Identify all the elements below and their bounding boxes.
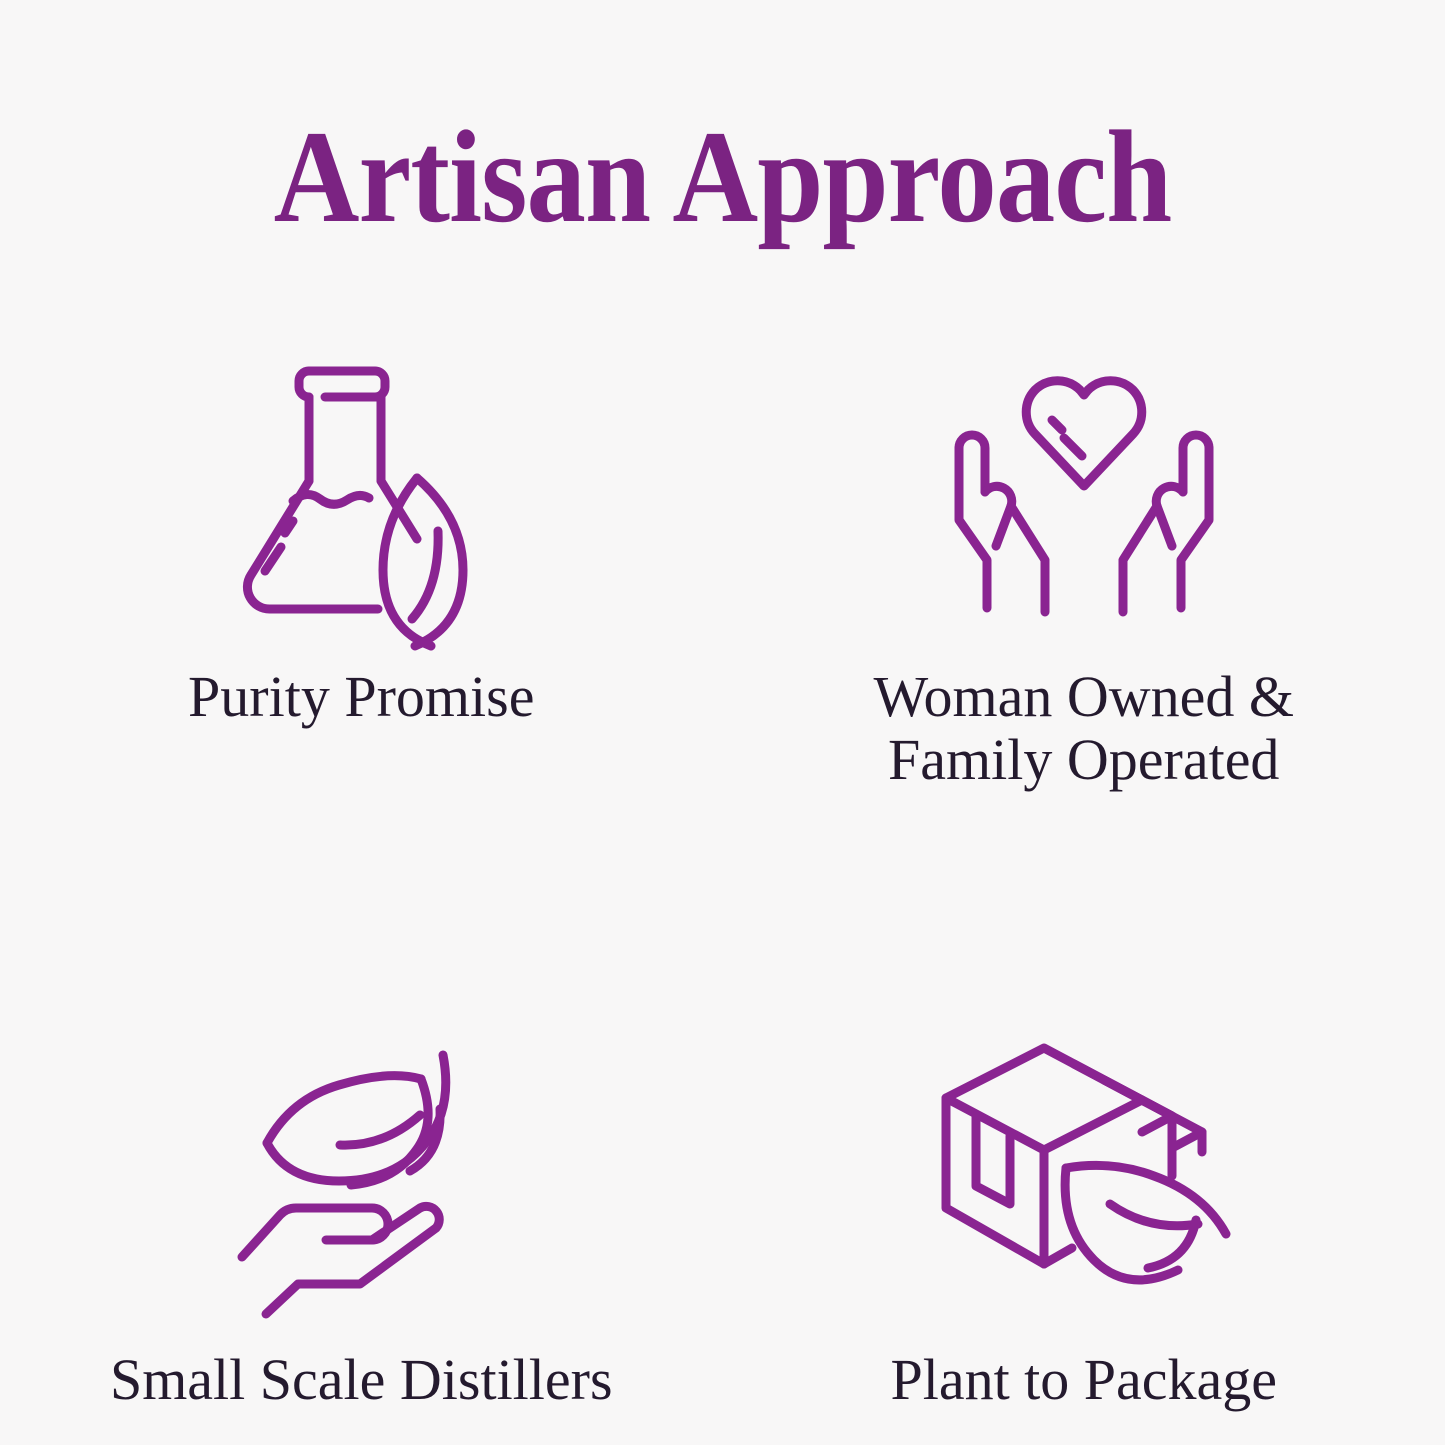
box-leaf-icon <box>934 1023 1234 1313</box>
page-title: Artisan Approach <box>72 108 1373 247</box>
feature-item-woman-owned: Woman Owned & Family Operated <box>723 330 1445 791</box>
flask-leaf-icon <box>211 348 511 638</box>
artisan-approach-panel: Artisan Approach <box>0 0 1445 1445</box>
hand-holding-leaf-icon <box>211 1023 511 1313</box>
feature-label: Woman Owned & Family Operated <box>873 666 1294 791</box>
hands-holding-heart-icon <box>934 348 1234 638</box>
feature-label: Plant to Package <box>890 1349 1277 1412</box>
feature-label: Purity Promise <box>188 666 534 729</box>
feature-item-small-scale: Small Scale Distillers <box>0 791 723 1412</box>
feature-item-purity-promise: Purity Promise <box>0 330 723 791</box>
feature-grid: Purity Promise <box>0 330 1445 1340</box>
feature-item-plant-to-package: Plant to Package <box>723 791 1445 1412</box>
feature-label: Small Scale Distillers <box>110 1349 613 1412</box>
